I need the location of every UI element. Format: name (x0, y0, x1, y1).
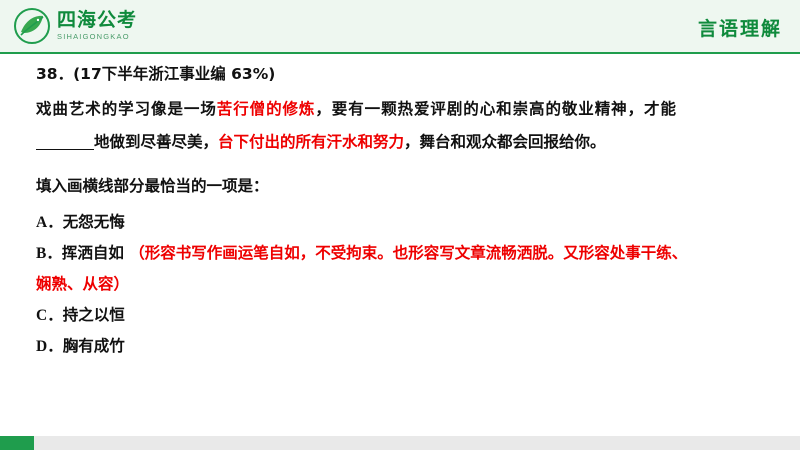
header-divider (0, 52, 800, 54)
option-item-d[interactable]: D．胸有成竹 (36, 331, 696, 362)
answer-blank (36, 149, 94, 150)
question-content: 38．(17下半年浙江事业编 63%) 戏曲艺术的学习像是一场苦行僧的修炼，要有… (36, 58, 766, 362)
option-text-a: 无怨无悔 (63, 213, 125, 231)
passage-highlight-2: 台下付出的所有汗水和努力 (218, 133, 404, 151)
question-prompt: 填入画横线部分最恰当的一项是： (36, 171, 766, 201)
leaf-bird-logo-icon (14, 8, 50, 44)
footer-bar-green (0, 436, 34, 450)
footer-bar-gray (34, 436, 800, 450)
passage-segment-1: 戏曲艺术的学习像是一场 (36, 100, 217, 118)
brand-logo: 四海公考 SIHAIGONGKAO (14, 8, 137, 44)
slide-footer (0, 436, 800, 450)
slide-root: 四海公考 SIHAIGONGKAO 言语理解 38．(17下半年浙江事业编 63… (0, 0, 800, 450)
passage-highlight-1: 苦行僧的修炼 (217, 100, 316, 118)
option-text-c: 持之以恒 (63, 306, 125, 324)
option-label-c: C． (36, 307, 63, 324)
option-label-d: D． (36, 338, 63, 355)
passage-segment-3: 地做到尽善尽美， (94, 133, 218, 151)
question-passage: 戏曲艺术的学习像是一场苦行僧的修炼，要有一颗热爱评剧的心和崇高的敬业精神，才能地… (36, 93, 676, 159)
passage-segment-2: ，要有一颗热爱评剧的心和崇高的敬业精神，才能 (315, 100, 676, 118)
option-label-b: B． (36, 245, 62, 262)
brand-name-en: SIHAIGONGKAO (57, 33, 137, 41)
passage-segment-4: ，舞台和观众都会回报给你。 (404, 133, 606, 151)
brand-name-cn: 四海公考 (57, 11, 137, 30)
option-text-d: 胸有成竹 (63, 337, 125, 355)
question-number: 38．(17下半年浙江事业编 63%) (36, 58, 766, 91)
option-item-c[interactable]: C．持之以恒 (36, 300, 696, 331)
option-note-b: （形容书写作画运笔自如，不受拘束。也形容写文章流畅洒脱。又形容处事干练、娴熟、从… (36, 244, 687, 293)
slide-header: 四海公考 SIHAIGONGKAO 言语理解 (0, 0, 800, 52)
option-list: A．无怨无悔 B．挥洒自如 （形容书写作画运笔自如，不受拘束。也形容写文章流畅洒… (36, 207, 766, 362)
option-item-a[interactable]: A．无怨无悔 (36, 207, 696, 238)
section-title: 言语理解 (698, 14, 782, 41)
brand-logo-text: 四海公考 SIHAIGONGKAO (57, 11, 137, 41)
option-text-b: 挥洒自如 (62, 244, 124, 262)
option-label-a: A． (36, 214, 63, 231)
option-item-b[interactable]: B．挥洒自如 （形容书写作画运笔自如，不受拘束。也形容写文章流畅洒脱。又形容处事… (36, 238, 696, 300)
